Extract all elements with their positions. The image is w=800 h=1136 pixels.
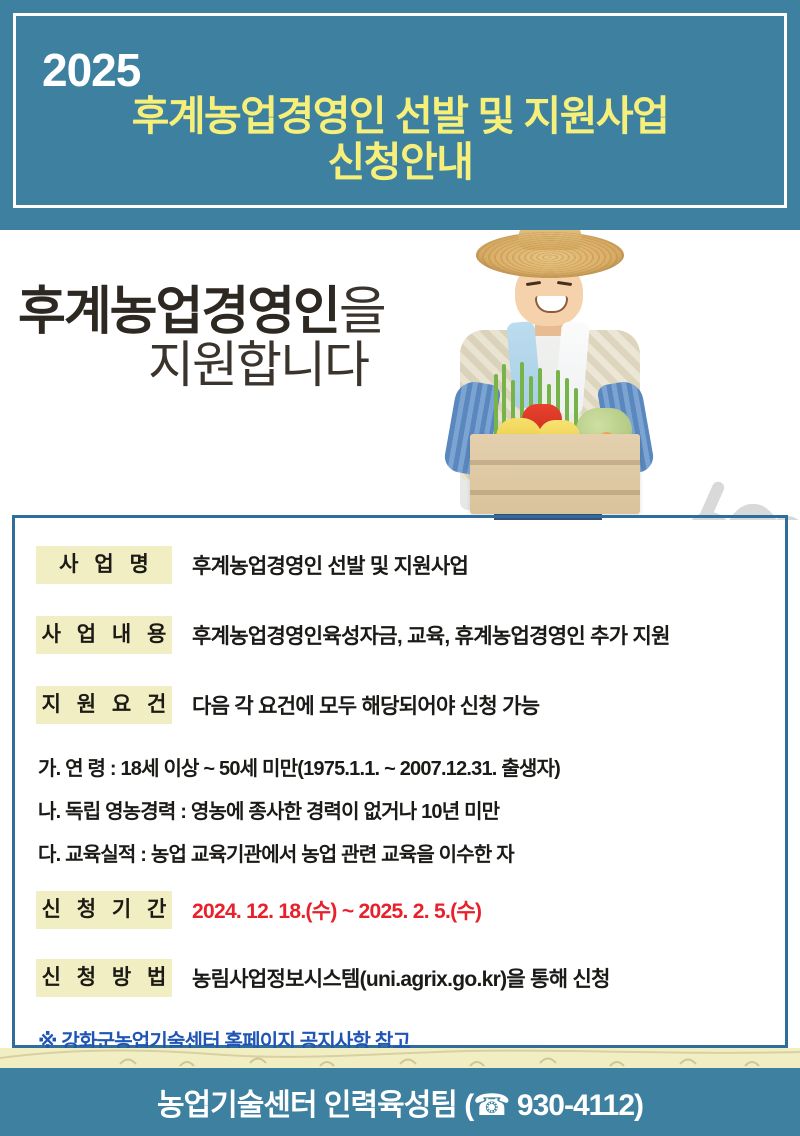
table-row: 지 원 요 건 다음 각 요건에 모두 해당되어야 신청 가능 bbox=[12, 686, 788, 724]
condition-item-experience: 나. 독립 영농경력 : 영농에 종사한 경력이 없거나 10년 미만 bbox=[38, 795, 788, 824]
row-value-eligibility: 다음 각 요건에 모두 해당되어야 신청 가능 bbox=[192, 690, 539, 720]
headline-line2: 지원합니다 bbox=[18, 339, 458, 393]
vegetable-crate-icon bbox=[470, 434, 640, 514]
row-label-application-method: 신 청 방 법 bbox=[36, 959, 172, 997]
row-label-application-period: 신 청 기 간 bbox=[36, 891, 172, 929]
table-row: 사 업 내 용 후계농업경영인육성자금, 교육, 휴계농업경영인 추가 지원 bbox=[12, 616, 788, 654]
row-value-application-method: 농림사업정보시스템(uni.agrix.go.kr)을 통해 신청 bbox=[192, 963, 610, 993]
farmer-illustration bbox=[398, 230, 698, 520]
header-banner: 2025 후계농업경영인 선발 및 지원사업 신청안내 bbox=[0, 0, 800, 230]
decorative-field-band bbox=[0, 1048, 800, 1070]
row-value-business-name: 후계농업경영인 선발 및 지원사업 bbox=[192, 550, 468, 580]
footer-bar: 농업기술센터 인력육성팀 (☎ 930-4112) bbox=[0, 1068, 800, 1136]
row-label-business-name: 사 업 명 bbox=[36, 546, 172, 584]
footer-contact-text: 농업기술센터 인력육성팀 (☎ 930-4112) bbox=[157, 1080, 643, 1124]
headline-particle: 을 bbox=[339, 283, 385, 341]
row-value-business-content: 후계농업경영인육성자금, 교육, 휴계농업경영인 추가 지원 bbox=[192, 620, 670, 650]
condition-item-age: 가. 연 령 : 18세 이상 ~ 50세 미만(1975.1.1. ~ 200… bbox=[38, 752, 788, 781]
info-rows: 사 업 명 후계농업경영인 선발 및 지원사업 사 업 내 용 후계농업경영인육… bbox=[12, 518, 788, 1054]
headline-bold-part: 후계농업경영인 bbox=[18, 283, 339, 341]
banner-subtitle: 신청안내 bbox=[328, 140, 473, 186]
hero-headline: 후계농업경영인을 지원합니다 bbox=[18, 285, 458, 392]
field-pattern-icon bbox=[0, 1048, 800, 1070]
banner-title: 후계농업경영인 선발 및 지원사업 bbox=[132, 94, 669, 140]
row-label-eligibility: 지 원 요 건 bbox=[36, 686, 172, 724]
hero-section: 후계농업경영인을 지원합니다 bbox=[0, 230, 800, 520]
condition-item-education: 다. 교육실적 : 농업 교육기관에서 농업 관련 교육을 이수한 자 bbox=[38, 838, 788, 867]
row-label-business-content: 사 업 내 용 bbox=[36, 616, 172, 654]
table-row: 신 청 기 간 2024. 12. 18.(수) ~ 2025. 2. 5.(수… bbox=[12, 891, 788, 929]
banner-year: 2025 bbox=[42, 48, 140, 92]
table-row: 신 청 방 법 농림사업정보시스템(uni.agrix.go.kr)을 통해 신… bbox=[12, 959, 788, 997]
poster-root: 2025 후계농업경영인 선발 및 지원사업 신청안내 후계농업경영인을 지원합… bbox=[0, 0, 800, 1136]
row-value-application-period: 2024. 12. 18.(수) ~ 2025. 2. 5.(수) bbox=[192, 895, 481, 925]
table-row: 사 업 명 후계농업경영인 선발 및 지원사업 bbox=[12, 546, 788, 584]
